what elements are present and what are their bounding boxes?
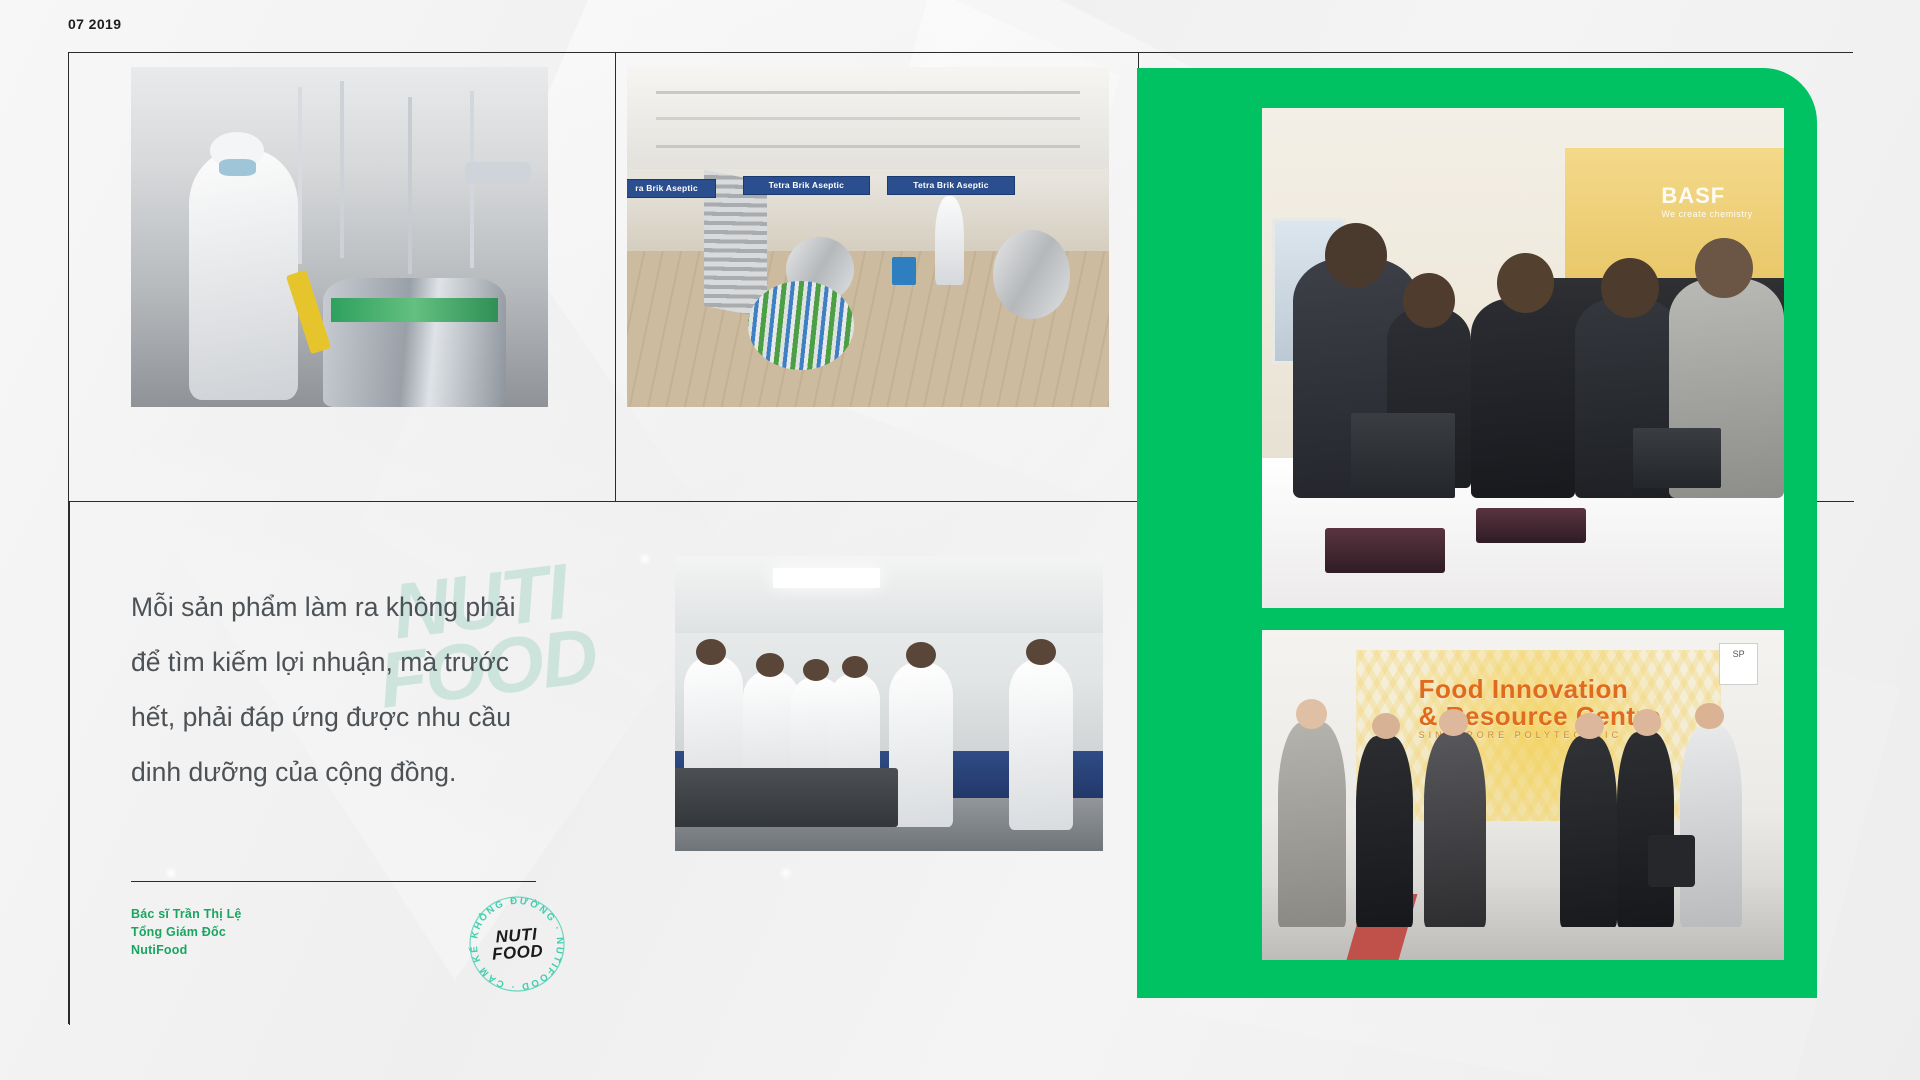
- person-head: [1372, 713, 1401, 739]
- machine-rail: [298, 87, 302, 264]
- laptop: [1633, 428, 1722, 488]
- blue-bin: [892, 257, 916, 284]
- grid-divider-vertical: [69, 501, 70, 1025]
- machine-label: Tetra Brik Aseptic: [887, 176, 1014, 195]
- scientist-head: [756, 653, 784, 677]
- hall-ceiling: [627, 67, 1109, 169]
- ceiling-pipe: [656, 91, 1080, 94]
- person-head: [1439, 709, 1468, 735]
- magazine-spread: 07 2019 ra Brik Aseptic Tetra Brik Asept…: [0, 0, 1920, 1080]
- worker-mask: [219, 159, 257, 176]
- machine-tube: [465, 162, 532, 182]
- pull-quote: Mỗi sản phẩm làm ra không phải để tìm ki…: [131, 580, 601, 800]
- signature-rule: [131, 881, 536, 882]
- person-head: [1575, 713, 1604, 739]
- factory-worker: [935, 196, 964, 284]
- person-head: [1296, 699, 1327, 729]
- quote-line-1: Mỗi sản phẩm làm ra không phải: [131, 580, 601, 635]
- stainless-tank: [323, 278, 506, 407]
- stamp-core: NUTI FOOD: [459, 886, 574, 1001]
- green-accent-frame-left: [1137, 68, 1217, 998]
- photo-basf-meeting: BASF We create chemistry: [1262, 108, 1784, 608]
- person-head: [1695, 703, 1724, 729]
- quote-attribution: Bác sĩ Trần Thị Lệ Tổng Giám Đốc NutiFoo…: [131, 905, 242, 959]
- nutifood-stamp: KHÔNG ĐƯỜNG · NUTIFOOD · CAM KẾT · NUTI …: [463, 890, 571, 998]
- laptop: [1351, 413, 1455, 498]
- basf-tagline: We create chemistry: [1661, 209, 1752, 219]
- scientist-head: [1026, 639, 1056, 666]
- basf-logo: BASF We create chemistry: [1661, 183, 1752, 219]
- person-silhouette: [1680, 726, 1743, 927]
- quote-line-3: hết, phải đáp ứng được nhu cầu: [131, 690, 601, 745]
- machine-label: Tetra Brik Aseptic: [743, 176, 870, 195]
- photo-lab-scientists: [675, 556, 1103, 851]
- packaging-reel: [748, 281, 854, 369]
- scientist-coat: [889, 662, 953, 827]
- photo-factory-filling: [131, 67, 548, 407]
- issue-date: 07 2019: [68, 16, 121, 32]
- stamp-core-line-2: FOOD: [491, 942, 543, 963]
- person-silhouette: [1560, 736, 1617, 927]
- scientist-coat: [1009, 659, 1073, 830]
- person-head: [1497, 253, 1554, 313]
- person-silhouette: [1471, 298, 1575, 498]
- person-silhouette: [1356, 736, 1413, 927]
- attribution-name: Bác sĩ Trần Thị Lệ: [131, 905, 242, 923]
- factory-worker: [189, 149, 297, 401]
- firc-line-1: Food Innovation: [1419, 676, 1662, 703]
- photo-tetra-brik-hall: ra Brik Aseptic Tetra Brik Aseptic Tetra…: [627, 67, 1109, 407]
- lab-ceiling: [675, 556, 1103, 633]
- person-head: [1325, 223, 1388, 288]
- dark-table: [675, 768, 898, 827]
- person-silhouette: [1424, 732, 1487, 927]
- sample-tray: [1325, 528, 1445, 573]
- person-head: [1695, 238, 1752, 298]
- attribution-title: Tổng Giám Đốc: [131, 923, 242, 941]
- quote-line-2: để tìm kiếm lợi nhuận, mà trước: [131, 635, 601, 690]
- person-head: [1403, 273, 1455, 328]
- person-head: [1601, 258, 1658, 318]
- quote-line-4: dinh dưỡng của cộng đồng.: [131, 745, 601, 800]
- sp-logo: SP: [1719, 643, 1758, 685]
- scientist-head: [906, 642, 936, 669]
- grid-divider-vertical: [615, 53, 616, 501]
- machine-label: ra Brik Aseptic: [627, 179, 716, 198]
- person-silhouette: [1278, 722, 1346, 927]
- basf-wordmark: BASF: [1661, 183, 1725, 208]
- handbag: [1648, 835, 1695, 888]
- scientist-head: [842, 656, 868, 678]
- person-head: [1633, 709, 1662, 735]
- photo-firc-group: SP Food Innovation & Resource Centre SIN…: [1262, 630, 1784, 960]
- person-silhouette: [1617, 732, 1674, 927]
- product-band: [331, 298, 498, 322]
- ceiling-light: [773, 568, 880, 589]
- sample-tray: [1476, 508, 1586, 543]
- packaging-reel: [993, 230, 1070, 318]
- attribution-company: NutiFood: [131, 941, 242, 959]
